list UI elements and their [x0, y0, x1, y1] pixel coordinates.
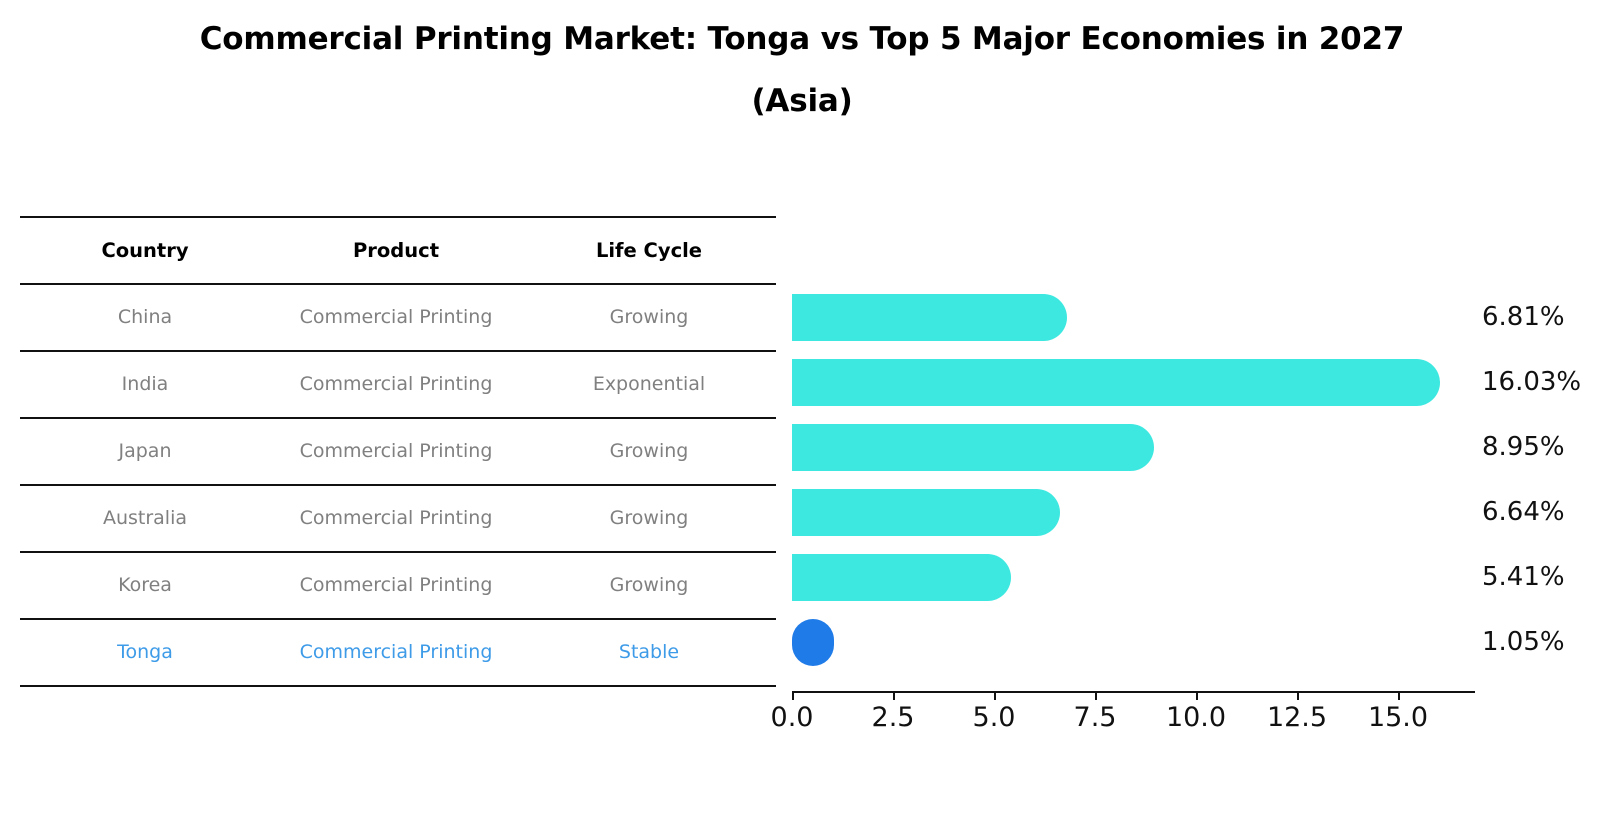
cell-product: Commercial Printing — [270, 419, 522, 484]
cell-life-cycle: Growing — [522, 553, 776, 618]
x-axis-tick — [1398, 691, 1400, 700]
cell-life-cycle: Growing — [522, 419, 776, 484]
cell-life-cycle: Growing — [522, 486, 776, 551]
cell-life-cycle: Exponential — [522, 352, 776, 417]
bar-india — [792, 359, 1440, 406]
x-axis-tick-label: 15.0 — [1338, 702, 1458, 733]
x-axis-tick-label: 0.0 — [732, 702, 852, 733]
x-axis-tick — [1196, 691, 1198, 700]
x-axis-tick-label: 10.0 — [1136, 702, 1256, 733]
table-row[interactable]: Japan Commercial Printing Growing — [20, 417, 776, 484]
bar-value-label: 6.81% — [1482, 294, 1565, 341]
cell-product: Commercial Printing — [270, 553, 522, 618]
cell-product: Commercial Printing — [270, 620, 522, 685]
cell-product: Commercial Printing — [270, 486, 522, 551]
x-axis-tick — [994, 691, 996, 700]
cell-country: China — [20, 285, 270, 350]
cell-country: Japan — [20, 419, 270, 484]
bar-value-label: 6.64% — [1482, 489, 1565, 536]
x-axis-tick-label: 5.0 — [934, 702, 1054, 733]
cell-country: Australia — [20, 486, 270, 551]
bar-value-label: 1.05% — [1482, 619, 1565, 666]
column-header-country: Country — [20, 218, 270, 283]
bar-tonga — [792, 619, 834, 666]
bar-value-label: 8.95% — [1482, 424, 1565, 471]
table-row[interactable]: India Commercial Printing Exponential — [20, 350, 776, 417]
table-row[interactable]: Australia Commercial Printing Growing — [20, 484, 776, 551]
cell-life-cycle: Growing — [522, 285, 776, 350]
title-line-1: Commercial Printing Market: Tonga vs Top… — [0, 8, 1604, 70]
bar-korea — [792, 554, 1011, 601]
cell-product: Commercial Printing — [270, 285, 522, 350]
x-axis-tick — [1095, 691, 1097, 700]
cell-life-cycle: Stable — [522, 620, 776, 685]
bar-value-label: 5.41% — [1482, 554, 1565, 601]
x-axis-tick-label: 12.5 — [1237, 702, 1357, 733]
x-axis-tick — [1297, 691, 1299, 700]
cell-product: Commercial Printing — [270, 352, 522, 417]
table-row[interactable]: Korea Commercial Printing Growing — [20, 551, 776, 618]
bar-china — [792, 294, 1067, 341]
x-axis-tick — [893, 691, 895, 700]
x-axis-tick-label: 7.5 — [1035, 702, 1155, 733]
cell-country: Tonga — [20, 620, 270, 685]
column-header-life-cycle: Life Cycle — [522, 218, 776, 283]
country-table: Country Product Life Cycle China Commerc… — [20, 216, 776, 687]
x-axis-tick-label: 2.5 — [833, 702, 953, 733]
cell-country: India — [20, 352, 270, 417]
cell-country: Korea — [20, 553, 270, 618]
table-row-highlighted[interactable]: Tonga Commercial Printing Stable — [20, 618, 776, 687]
page-title: Commercial Printing Market: Tonga vs Top… — [0, 8, 1604, 132]
x-axis-tick — [792, 691, 794, 700]
bar-japan — [792, 424, 1154, 471]
bar-australia — [792, 489, 1060, 536]
bar-value-label: 16.03% — [1482, 359, 1581, 406]
title-line-2: (Asia) — [0, 70, 1604, 132]
x-axis-line — [792, 691, 1475, 693]
column-header-product: Product — [270, 218, 522, 283]
table-header-row: Country Product Life Cycle — [20, 216, 776, 283]
table-row[interactable]: China Commercial Printing Growing — [20, 283, 776, 350]
